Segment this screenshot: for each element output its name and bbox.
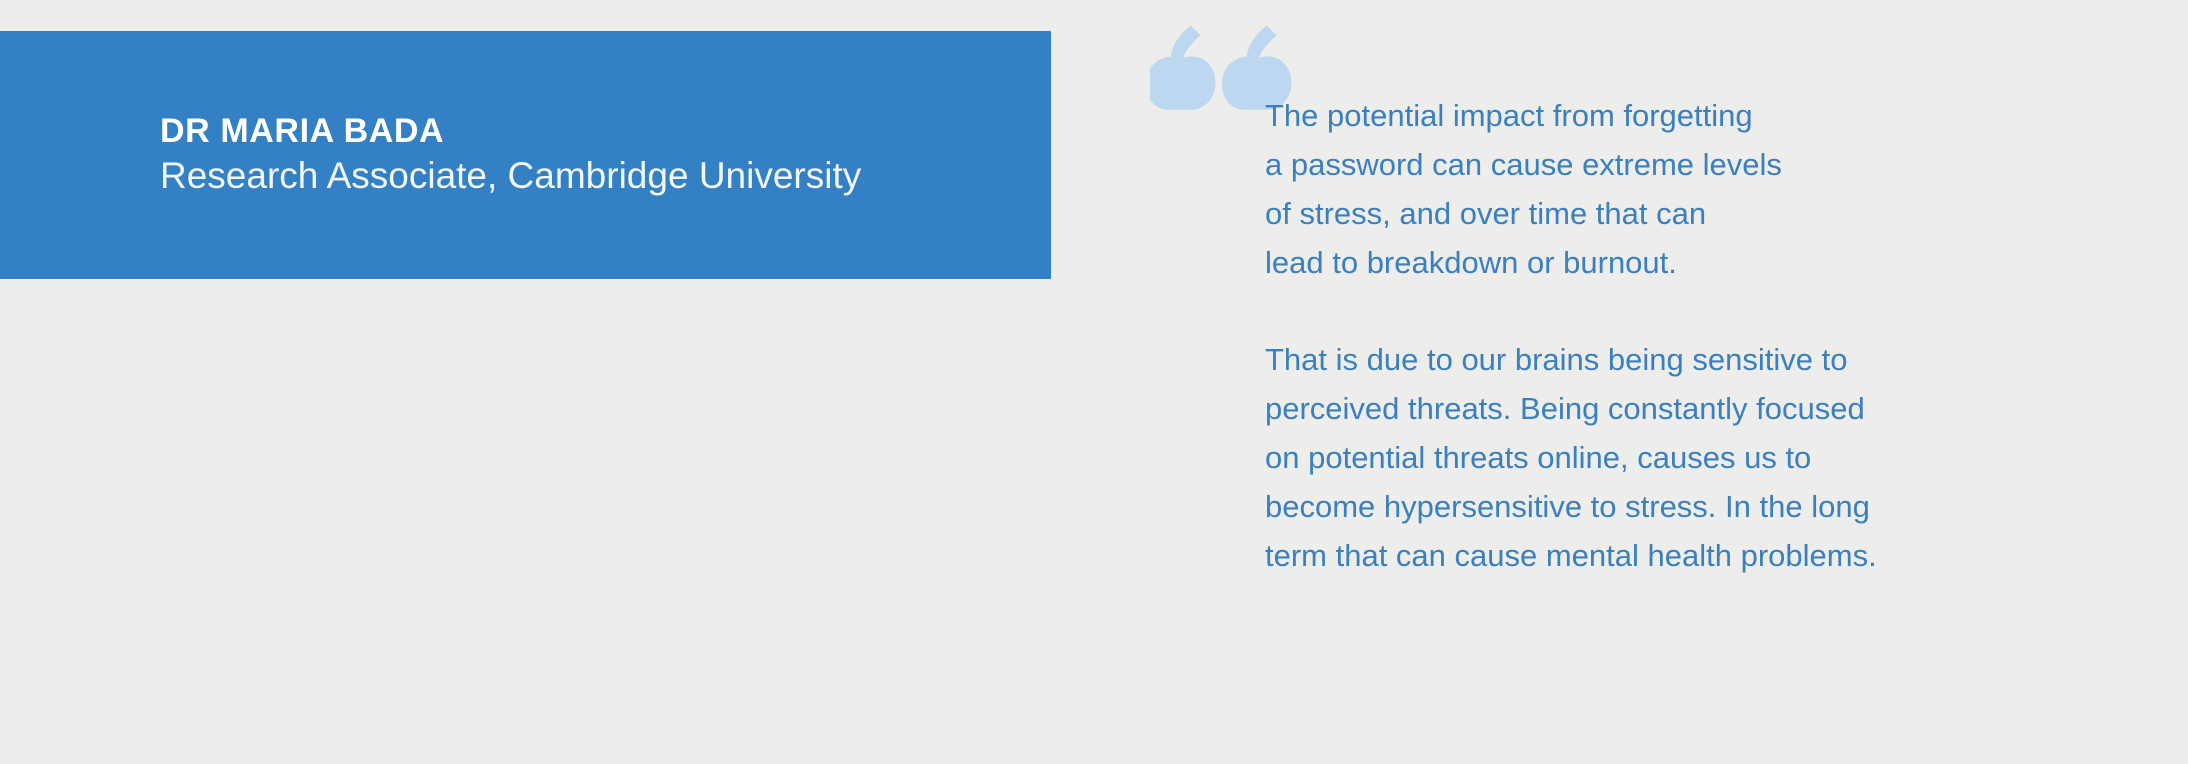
quote-paragraph-1: The potential impact from forgetting a p… xyxy=(1265,91,2025,287)
speaker-name: DR MARIA BADA xyxy=(160,113,1051,150)
quote-paragraph-2: That is due to our brains being sensitiv… xyxy=(1265,335,2025,580)
quote-block: The potential impact from forgetting a p… xyxy=(1150,25,2050,585)
slide-canvas: DR MARIA BADA Research Associate, Cambri… xyxy=(0,0,2188,764)
speaker-name-card: DR MARIA BADA Research Associate, Cambri… xyxy=(0,31,1051,279)
speaker-role: Research Associate, Cambridge University xyxy=(160,156,1051,197)
quote-text: The potential impact from forgetting a p… xyxy=(1265,91,2025,580)
